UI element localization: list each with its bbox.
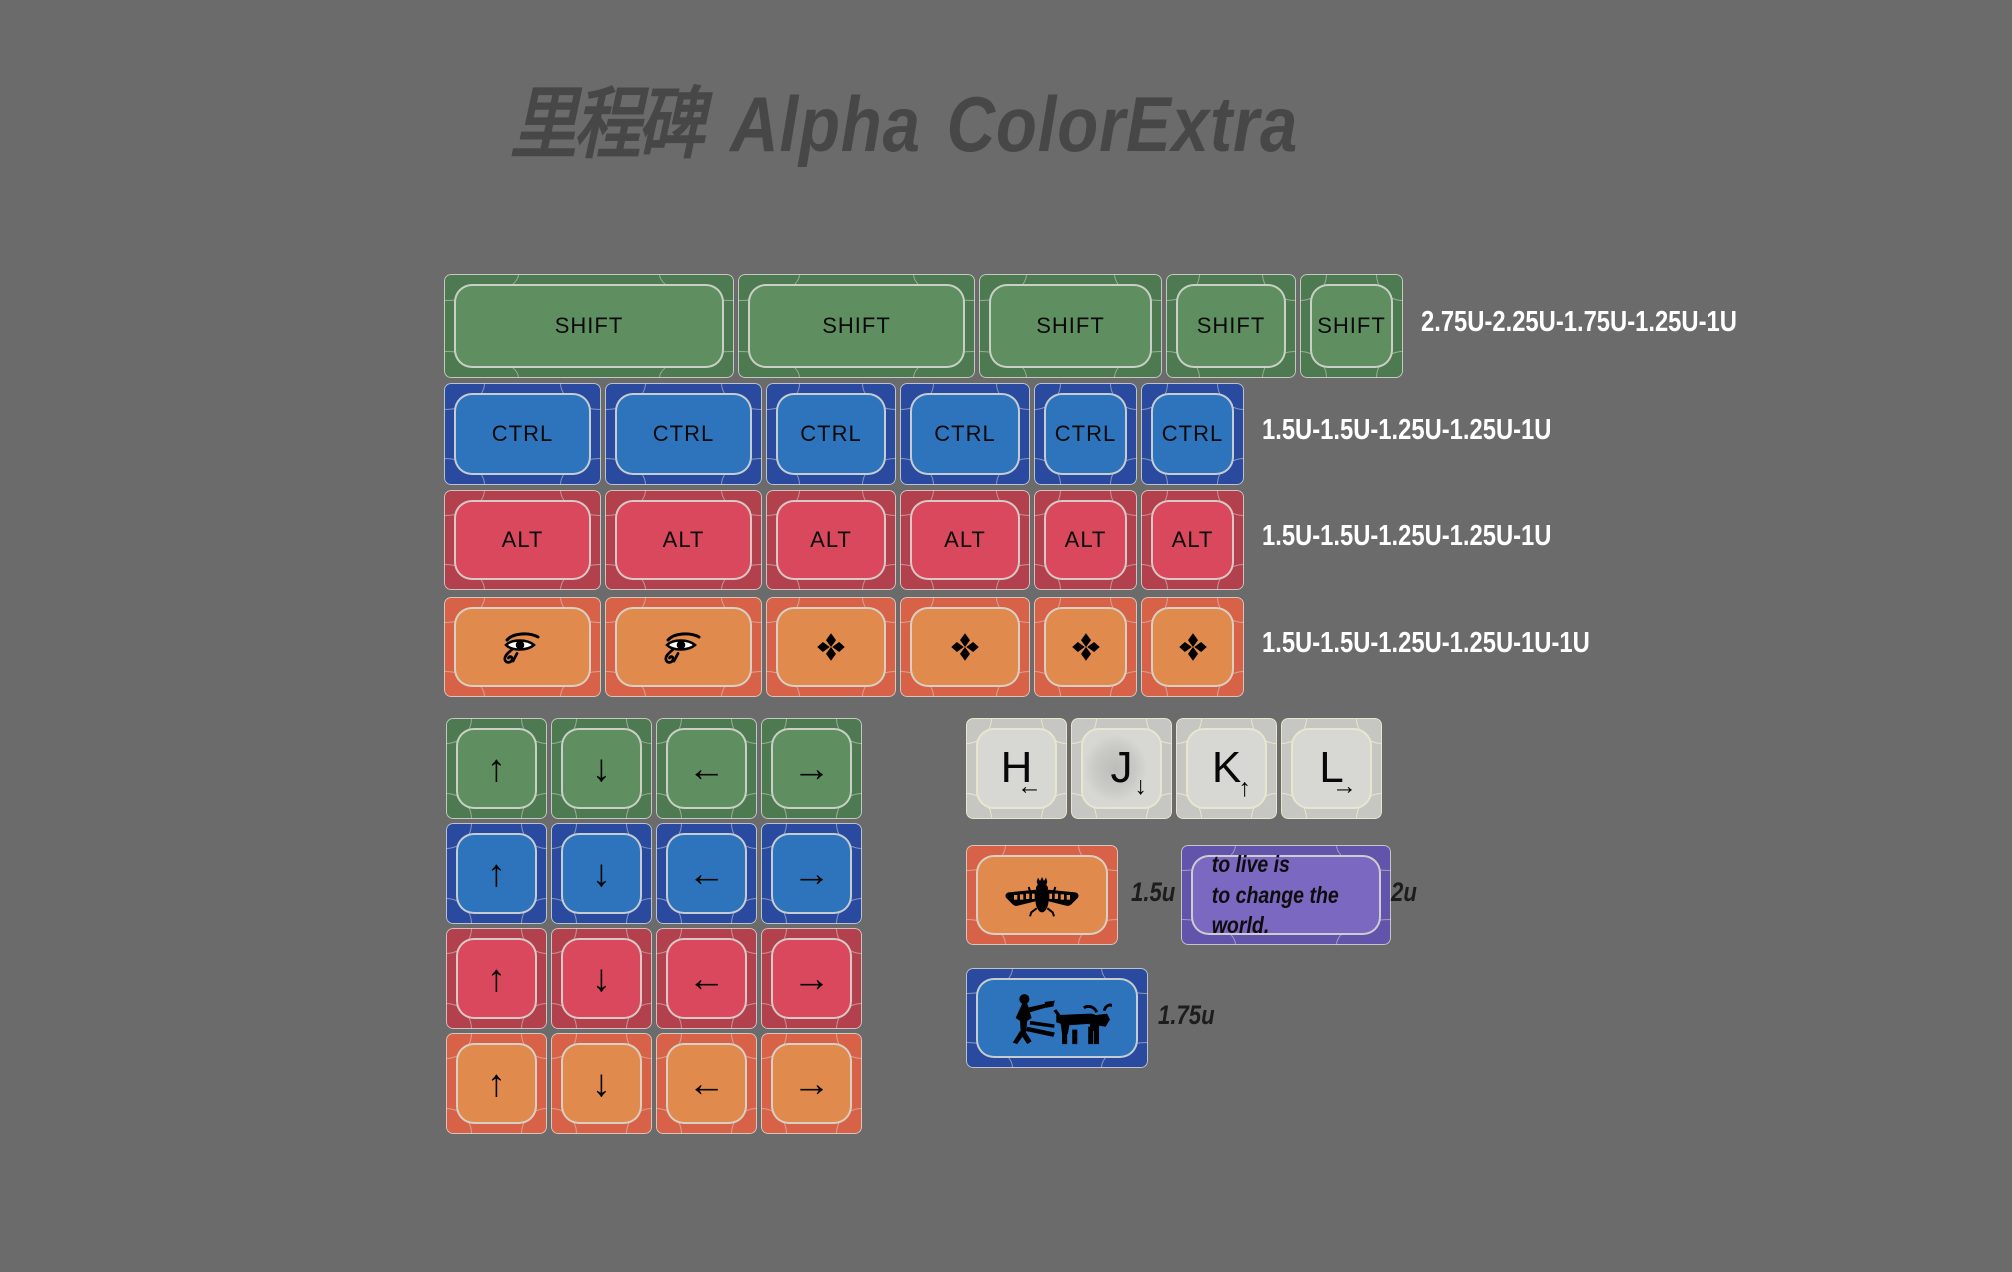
keycap-glyph: → [793,750,831,788]
keycap-glyph: ↓ [592,960,611,998]
keycap-vim-l[interactable]: L → [1281,718,1382,819]
keycap-top-surface: SHIFT [989,284,1152,368]
keycap-glyph: ↑ [487,855,506,893]
vim-key-direction-arrow: ↑ [1239,776,1252,801]
keycap-arrow-red-left[interactable]: ← [656,928,757,1029]
quote-line-1: to live is [1212,849,1351,879]
keycap-vim-j[interactable]: J ↓ [1071,718,1172,819]
keycap-arrow-green-up[interactable]: ↑ [446,718,547,819]
keycap-legend: ALT [1065,528,1107,552]
keycap-red-alt-1.5u[interactable]: ALT [444,490,601,590]
keycap-top-surface: ↑ [456,728,537,809]
keycap-blue-ctrl-1.25u[interactable]: CTRL [766,383,896,485]
keycap-top-surface: K ↑ [1186,728,1267,809]
keycap-top-surface: CTRL [615,393,752,475]
keycap-scarab-keycap[interactable] [966,845,1118,945]
vim-key-face: H ← [978,730,1055,807]
keycap-top-surface: to live is to change the world. [1191,855,1381,935]
keycap-top-surface: ALT [454,500,591,580]
keycap-arrow-blue-left[interactable]: ← [656,823,757,924]
keycap-legend: CTRL [934,422,995,446]
page-title: 里程碑AlphaColorExtra [510,80,1298,170]
keycap-blue-ctrl-1u[interactable]: CTRL [1141,383,1244,485]
four-diamonds-icon [816,632,846,662]
keycap-top-surface [454,607,591,687]
keycap-orange-four-diamonds-icon-1.25u[interactable] [766,597,896,697]
keycap-arrow-green-left[interactable]: ← [656,718,757,819]
keycap-top-surface [776,607,886,687]
keycap-orange-eye-of-horus-icon-1.5u[interactable] [444,597,601,697]
keycap-arrow-orange-right[interactable]: → [761,1033,862,1134]
keycap-glyph: ← [688,855,726,893]
eye-of-horus-icon [497,627,549,667]
keycap-legend: SHIFT [1036,314,1105,338]
keycap-arrow-blue-right[interactable]: → [761,823,862,924]
keycap-top-surface: CTRL [776,393,886,475]
title-word-alpha: Alpha [730,80,921,168]
keycap-arrow-red-right[interactable]: → [761,928,862,1029]
keycap-glyph: → [793,960,831,998]
keycap-blue-ctrl-1u[interactable]: CTRL [1034,383,1137,485]
title-word-colorextra: ColorExtra [947,80,1299,168]
keycap-top-surface: ← [666,938,747,1019]
keycap-glyph: → [793,1065,831,1103]
keycap-top-surface: SHIFT [1310,284,1393,368]
keycap-set-sheet: 里程碑AlphaColorExtra SHIFTSHIFTSHIFTSHIFTS… [0,0,2012,1272]
keycap-top-surface: ← [666,833,747,914]
keycap-top-surface: CTRL [1044,393,1127,475]
keycap-legend: ALT [944,528,986,552]
keycap-green-shift-1.75u[interactable]: SHIFT [979,274,1162,378]
keycap-top-surface: SHIFT [1176,284,1286,368]
keycap-glyph: ← [688,1065,726,1103]
keycap-legend: ALT [663,528,705,552]
keycap-legend: SHIFT [1197,314,1266,338]
size-label-shift-row: 2.75U-2.25U-1.75U-1.25U-1U [1421,306,1737,339]
keycap-top-surface: ↓ [561,1043,642,1124]
keycap-orange-four-diamonds-icon-1u[interactable] [1141,597,1244,697]
keycap-red-alt-1.25u[interactable]: ALT [766,490,896,590]
size-label-symbol-row: 1.5U-1.5U-1.25U-1.25U-1U-1U [1262,627,1590,660]
keycap-top-surface: CTRL [454,393,591,475]
keycap-top-surface: ALT [910,500,1020,580]
keycap-blue-ctrl-1.5u[interactable]: CTRL [444,383,601,485]
four-diamonds-icon [1071,632,1101,662]
keycap-top-surface: ↓ [561,938,642,1019]
keycap-top-surface [976,855,1108,935]
keycap-top-surface: ↑ [456,938,537,1019]
keycap-legend: ALT [1172,528,1214,552]
keycap-legend: ALT [502,528,544,552]
keycap-green-shift-2.25u[interactable]: SHIFT [738,274,975,378]
keycap-red-alt-1u[interactable]: ALT [1141,490,1244,590]
keycap-glyph: ↓ [592,855,611,893]
man-plowing-ox-icon [1002,989,1112,1047]
keycap-glyph: ↓ [592,1065,611,1103]
keycap-red-alt-1.25u[interactable]: ALT [900,490,1030,590]
keycap-top-surface: ALT [1044,500,1127,580]
keycap-top-surface [615,607,752,687]
keycap-red-alt-1.5u[interactable]: ALT [605,490,762,590]
keycap-top-surface: ALT [776,500,886,580]
keycap-arrow-orange-down[interactable]: ↓ [551,1033,652,1134]
keycap-green-shift-1u[interactable]: SHIFT [1300,274,1403,378]
keycap-orange-four-diamonds-icon-1u[interactable] [1034,597,1137,697]
keycap-arrow-red-up[interactable]: ↑ [446,928,547,1029]
keycap-legend: CTRL [1162,422,1223,446]
keycap-top-surface: ALT [615,500,752,580]
quote-line-2: to change the world. [1212,880,1351,941]
keycap-glyph: ↑ [487,1065,506,1103]
keycap-legend: CTRL [800,422,861,446]
eye-of-horus-icon [658,627,710,667]
vim-key-face: L → [1293,730,1370,807]
keycap-glyph: ← [688,750,726,788]
keycap-legend: CTRL [1055,422,1116,446]
keycap-top-surface [976,978,1138,1058]
quote-text: to live is to change the world. [1193,849,1351,940]
keycap-legend: CTRL [653,422,714,446]
vim-key-direction-arrow: ← [1017,774,1042,799]
title-cjk: 里程碑 [510,80,701,168]
unit-label-plowing-ox-keycap: 1.75u [1158,1000,1215,1031]
keycap-glyph: ↑ [487,750,506,788]
keycap-glyph: → [793,855,831,893]
keycap-top-surface: CTRL [910,393,1020,475]
keycap-top-surface [1044,607,1127,687]
keycap-top-surface: L → [1291,728,1372,809]
keycap-top-surface: SHIFT [748,284,965,368]
keycap-top-surface: ↓ [561,833,642,914]
keycap-blue-ctrl-1.25u[interactable]: CTRL [900,383,1030,485]
keycap-legend: SHIFT [822,314,891,338]
keycap-top-surface: SHIFT [454,284,724,368]
vim-key-letter: J [1083,743,1160,793]
keycap-top-surface [910,607,1020,687]
keycap-arrow-red-down[interactable]: ↓ [551,928,652,1029]
keycap-top-surface: H ← [976,728,1057,809]
keycap-legend: CTRL [492,422,553,446]
keycap-vim-k[interactable]: K ↑ [1176,718,1277,819]
size-label-ctrl-row: 1.5U-1.5U-1.25U-1.25U-1U [1262,414,1551,447]
keycap-plowing-ox-keycap[interactable] [966,968,1148,1068]
vim-key-face: J ↓ [1083,730,1160,807]
keycap-top-surface: CTRL [1151,393,1234,475]
keycap-top-surface: → [771,833,852,914]
keycap-arrow-green-right[interactable]: → [761,718,862,819]
keycap-green-shift-2.75u[interactable]: SHIFT [444,274,734,378]
keycap-top-surface [1151,607,1234,687]
keycap-arrow-orange-left[interactable]: ← [656,1033,757,1134]
four-diamonds-icon [950,632,980,662]
keycap-top-surface: → [771,728,852,809]
keycap-glyph: ↓ [592,750,611,788]
keycap-arrow-orange-up[interactable]: ↑ [446,1033,547,1134]
keycap-vim-h[interactable]: H ← [966,718,1067,819]
four-diamonds-icon [1178,632,1208,662]
vim-key-direction-arrow: → [1332,774,1357,799]
keycap-arrow-green-down[interactable]: ↓ [551,718,652,819]
keycap-orange-eye-of-horus-icon-1.5u[interactable] [605,597,762,697]
keycap-top-surface: → [771,1043,852,1124]
keycap-top-surface: ← [666,1043,747,1124]
keycap-legend: ALT [810,528,852,552]
keycap-green-shift-1.25u[interactable]: SHIFT [1166,274,1296,378]
keycap-top-surface: ↓ [561,728,642,809]
keycap-top-surface: → [771,938,852,1019]
keycap-blue-ctrl-1.5u[interactable]: CTRL [605,383,762,485]
size-label-alt-row: 1.5U-1.5U-1.25U-1.25U-1U [1262,520,1551,553]
winged-scarab-icon [1002,871,1082,919]
vim-key-direction-arrow: ↓ [1135,774,1148,799]
keycap-top-surface: ← [666,728,747,809]
keycap-glyph: ↑ [487,960,506,998]
keycap-arrow-blue-down[interactable]: ↓ [551,823,652,924]
keycap-legend: SHIFT [1317,314,1386,338]
keycap-glyph: ← [688,960,726,998]
keycap-red-alt-1u[interactable]: ALT [1034,490,1137,590]
unit-label-quote-keycap: 2u [1391,877,1417,908]
keycap-orange-four-diamonds-icon-1.25u[interactable] [900,597,1030,697]
keycap-quote-keycap[interactable]: to live is to change the world. [1181,845,1391,945]
keycap-top-surface: ↑ [456,1043,537,1124]
keycap-top-surface: J ↓ [1081,728,1162,809]
keycap-top-surface: ↑ [456,833,537,914]
keycap-top-surface: ALT [1151,500,1234,580]
unit-label-scarab-keycap: 1.5u [1131,877,1175,908]
keycap-arrow-blue-up[interactable]: ↑ [446,823,547,924]
vim-key-face: K ↑ [1188,730,1265,807]
vim-key-letter: K [1188,743,1265,793]
keycap-legend: SHIFT [555,314,624,338]
